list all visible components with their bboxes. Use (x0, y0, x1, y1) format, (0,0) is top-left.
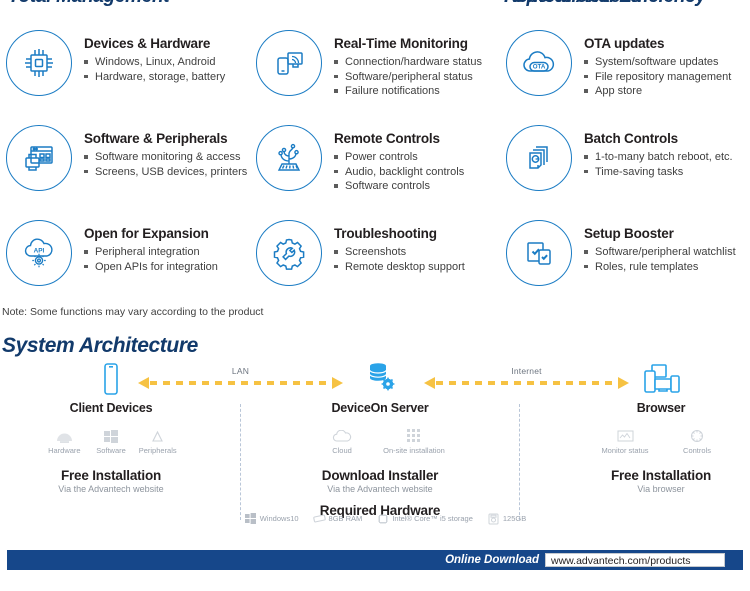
sub-item-controls: Controls (668, 426, 726, 455)
feature-bullet: Software controls (334, 179, 464, 194)
sub-item-on-site-installation: On-site installation (381, 426, 447, 455)
chip-icon (6, 30, 72, 96)
feature-bullet: Roles, rule templates (584, 260, 736, 275)
hardware-item-label: 8GB RAM (329, 514, 363, 523)
hardware-item-ram: 8GB RAM (313, 512, 363, 525)
poster-page: Total Management Remote Access Operation… (0, 0, 750, 591)
column-heading-operational-efficiency: Operational Efficiency (504, 0, 750, 12)
feature-bullet: Power controls (334, 150, 464, 165)
feature-bullet: Failure notifications (334, 84, 482, 99)
system-architecture-title: System Architecture (2, 334, 198, 358)
feature-batch-controls: Batch Controls 1-to-many batch reboot, e… (500, 123, 750, 218)
divider-right (519, 404, 520, 520)
monitor-status-icon (596, 426, 654, 443)
feature-title: Open for Expansion (84, 226, 218, 241)
server-subline: Via the Advantech website (312, 484, 448, 494)
column-heading-remote-access: Remote Access (246, 0, 504, 12)
feature-title: Devices & Hardware (84, 36, 225, 51)
feature-bullets: Connection/hardware status Software/peri… (334, 55, 482, 99)
hardware-item-cpu: Intel® Core™ i5 storage (376, 512, 473, 525)
sub-item-peripherals: Peripherals (138, 426, 177, 455)
arrow-left-head (424, 377, 435, 389)
sub-item-label: Monitor status (596, 446, 654, 455)
ram-icon (313, 512, 326, 525)
feature-real-time-monitoring: Real-Time Monitoring Connection/hardware… (250, 28, 500, 123)
real-time-monitoring-icon (256, 30, 322, 96)
feature-title: Remote Controls (334, 131, 464, 146)
feature-bullet: Connection/hardware status (334, 55, 482, 70)
feature-bullet: System/software updates (584, 55, 731, 70)
sub-item-label: Peripherals (138, 446, 177, 455)
software-peripherals-icon (6, 125, 72, 191)
feature-title: Setup Booster (584, 226, 736, 241)
batch-controls-icon (506, 125, 572, 191)
node-label: Client Devices (45, 401, 177, 415)
feature-bullet: App store (584, 84, 731, 99)
feature-devices-hardware: Devices & Hardware Windows, Linux, Andro… (0, 28, 250, 123)
server-sub-icons: Cloud On-site installation (312, 426, 448, 455)
sub-item-label: Cloud (313, 446, 371, 455)
controls-icon (668, 426, 726, 443)
feature-ota-updates: OTA OTA updates System/software updates … (500, 28, 750, 123)
sub-item-monitor-status: Monitor status (596, 426, 654, 455)
feature-setup-booster: Setup Booster Software/peripheral watchl… (500, 218, 750, 313)
feature-bullet: File repository management (584, 70, 731, 85)
api-cloud-gear-icon: API (6, 220, 72, 286)
node-label: Browser (594, 401, 728, 415)
feature-bullet: Audio, backlight controls (334, 165, 464, 180)
product-note: Note: Some functions may vary according … (2, 306, 263, 318)
feature-bullet: Windows, Linux, Android (84, 55, 225, 70)
feature-bullets: Peripheral integration Open APIs for int… (84, 245, 218, 274)
sub-item-label: Software (92, 446, 131, 455)
browser-headline: Free Installation (594, 468, 728, 483)
dashed-line (150, 381, 331, 385)
troubleshooting-wrench-gear-icon (256, 220, 322, 286)
peripherals-icon (138, 426, 177, 443)
feature-title: Batch Controls (584, 131, 733, 146)
feature-bullet: Remote desktop support (334, 260, 465, 275)
node-browser: Browser Monitor status Controls Free Ins… (594, 360, 728, 494)
feature-bullets: Software monitoring & access Screens, US… (84, 150, 247, 179)
column-headings: Total Management Remote Access Operation… (0, 0, 750, 12)
feature-title: Troubleshooting (334, 226, 465, 241)
multi-device-browser-icon (594, 360, 728, 396)
node-label: DeviceOn Server (312, 401, 448, 415)
windows-icon (244, 512, 257, 525)
hardware-item-label: 125GB (503, 514, 526, 523)
features-grid: Devices & Hardware Windows, Linux, Andro… (0, 28, 750, 313)
storage-icon (487, 512, 500, 525)
feature-bullets: Screenshots Remote desktop support (334, 245, 465, 274)
feature-bullets: 1-to-many batch reboot, etc. Time-saving… (584, 150, 733, 179)
online-download-label: Online Download (445, 554, 545, 566)
footer-bar: Online Download www.advantech.com/produc… (7, 550, 743, 570)
software-windows-icon (92, 426, 131, 443)
feature-bullets: Windows, Linux, Android Hardware, storag… (84, 55, 225, 84)
feature-bullet: Software/peripheral status (334, 70, 482, 85)
feature-title: Real-Time Monitoring (334, 36, 482, 51)
feature-bullet: Time-saving tasks (584, 165, 733, 180)
hardware-item-label: Intel® Core™ i5 storage (392, 514, 473, 523)
hardware-item-storage: 125GB (487, 512, 526, 525)
sub-item-software: Software (92, 426, 131, 455)
ota-cloud-icon: OTA (506, 30, 572, 96)
required-hardware-row: Windows10 8GB RAM Intel® Core™ i5 storag… (250, 512, 520, 525)
sub-item-label: On-site installation (381, 446, 447, 455)
cloud-icon (313, 426, 371, 443)
feature-bullets: Power controls Audio, backlight controls… (334, 150, 464, 194)
feature-bullets: System/software updates File repository … (584, 55, 731, 99)
cpu-icon (376, 512, 389, 525)
feature-bullet: 1-to-many batch reboot, etc. (584, 150, 733, 165)
feature-software-peripherals: Software & Peripherals Software monitori… (0, 123, 250, 218)
client-headline: Free Installation (45, 468, 177, 483)
feature-bullets: Software/peripheral watchlist Roles, rul… (584, 245, 736, 274)
hardware-item-label: Windows10 (260, 514, 299, 523)
sub-item-cloud: Cloud (313, 426, 371, 455)
hardware-icon (45, 426, 84, 443)
sub-item-hardware: Hardware (45, 426, 84, 455)
feature-bullet: Hardware, storage, battery (84, 70, 225, 85)
feature-title: OTA updates (584, 36, 731, 51)
sub-item-label: Hardware (45, 446, 84, 455)
feature-bullet: Open APIs for integration (84, 260, 218, 275)
feature-open-for-expansion: API Open for Expansion Peripheral integr… (0, 218, 250, 313)
setup-booster-icon (506, 220, 572, 286)
svg-text:API: API (34, 248, 45, 255)
sub-item-label: Controls (668, 446, 726, 455)
download-url[interactable]: www.advantech.com/products (545, 553, 725, 567)
dashed-line (436, 381, 617, 385)
svg-text:OTA: OTA (533, 64, 546, 71)
on-site-installation-icon (381, 426, 447, 443)
remote-controls-icon (256, 125, 322, 191)
feature-title: Software & Peripherals (84, 131, 247, 146)
server-headline: Download Installer (312, 468, 448, 483)
feature-bullet: Screens, USB devices, printers (84, 165, 247, 180)
column-heading-total-management: Total Management (0, 0, 246, 12)
feature-troubleshooting: Troubleshooting Screenshots Remote deskt… (250, 218, 500, 313)
feature-bullet: Software monitoring & access (84, 150, 247, 165)
client-sub-icons: Hardware Software Peripherals (45, 426, 177, 455)
feature-bullet: Software/peripheral watchlist (584, 245, 736, 260)
feature-remote-controls: Remote Controls Power controls Audio, ba… (250, 123, 500, 218)
client-subline: Via the Advantech website (45, 484, 177, 494)
feature-bullet: Peripheral integration (84, 245, 218, 260)
browser-subline: Via browser (594, 484, 728, 494)
arrow-left-head (138, 377, 149, 389)
divider-left (240, 404, 241, 520)
hardware-item-windows: Windows10 (244, 512, 299, 525)
architecture-diagram: Client Devices Hardware Software (0, 360, 750, 535)
feature-bullet: Screenshots (334, 245, 465, 260)
browser-sub-icons: Monitor status Controls (594, 426, 728, 455)
